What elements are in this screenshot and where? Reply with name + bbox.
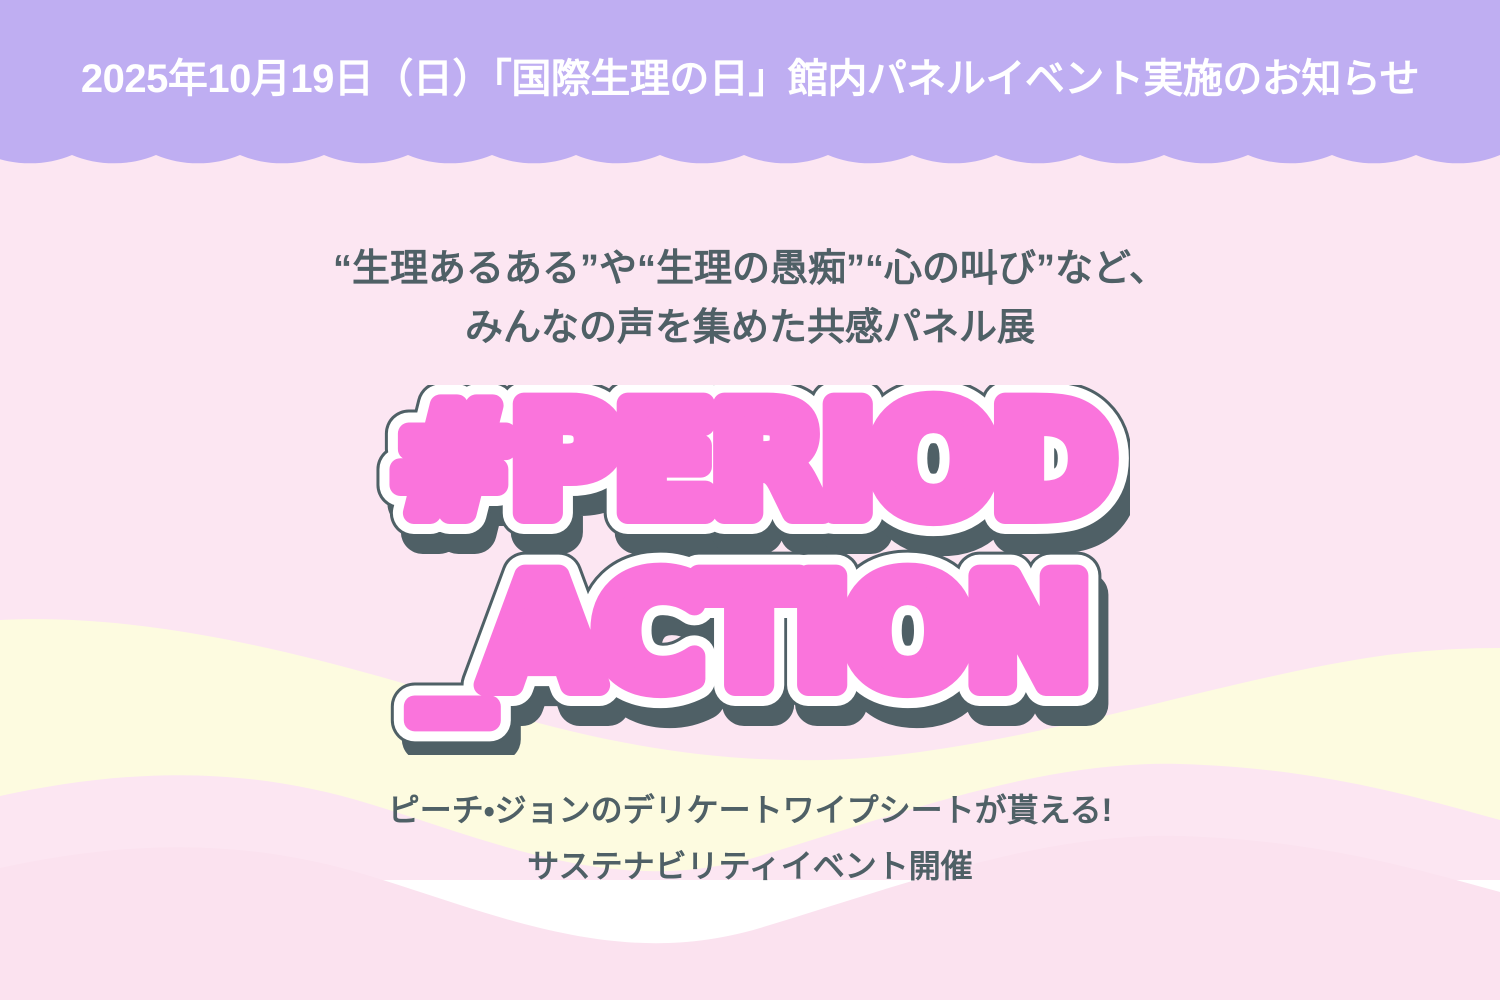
period-action-logo-svg: .bub-text{ font-family:"DejaVu Sans","Li…: [370, 385, 1130, 755]
footer-copy-line-2: サステナビリティイベント開催: [0, 838, 1500, 894]
logo-block: .bub-text{ font-family:"DejaVu Sans","Li…: [0, 385, 1500, 760]
logo-line-1-group: #PERIOD #PERIOD #PERIOD #PERIOD: [390, 385, 1118, 568]
logo-line-2-group: _ACTION _ACTION _ACTION _ACTION: [415, 547, 1094, 740]
lead-copy-line-2: みんなの声を集めた共感パネル展: [0, 299, 1500, 358]
background-white-base: [0, 880, 1500, 1000]
lead-copy-line-1: “生理あるある”や“生理の愚痴”“心の叫び”など、: [0, 240, 1500, 299]
footer-copy: ピーチ・ジョンのデリケートワイプシートが貰える! サステナビリティイベント開催: [0, 782, 1500, 894]
poster-root: 2025年10月19日（日）「国際生理の日」館内パネルイベント実施のお知らせ “…: [0, 0, 1500, 1000]
footer-copy-line-1: ピーチ・ジョンのデリケートワイプシートが貰える!: [0, 782, 1500, 838]
logo-line1-fill: #PERIOD: [390, 385, 1109, 549]
header-title: 2025年10月19日（日）「国際生理の日」館内パネルイベント実施のお知らせ: [0, 55, 1500, 103]
lead-copy: “生理あるある”や“生理の愚痴”“心の叫び”など、 みんなの声を集めた共感パネル…: [0, 240, 1500, 358]
logo-line2-fill: _ACTION: [415, 547, 1085, 721]
logo-artwork: .bub-text{ font-family:"DejaVu Sans","Li…: [370, 385, 1130, 755]
